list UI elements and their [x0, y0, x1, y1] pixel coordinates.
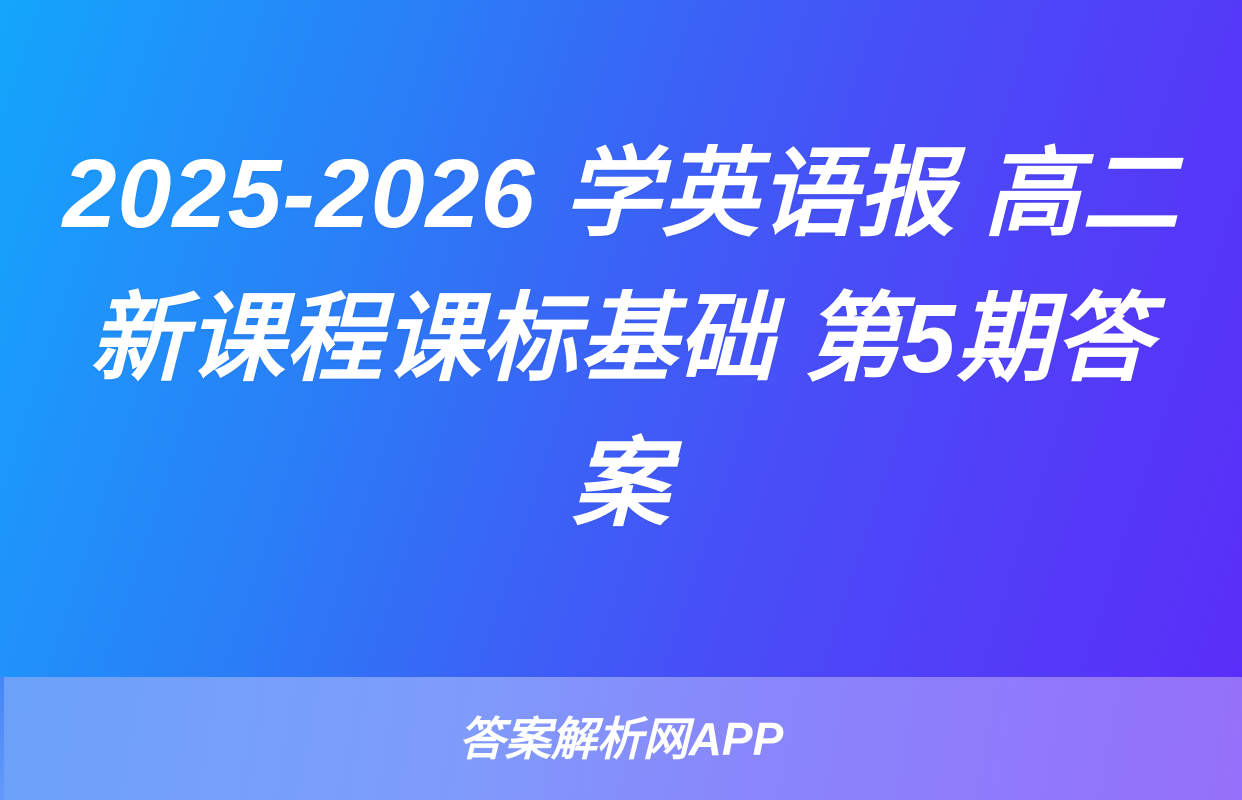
page-title: 2025-2026 学英语报 高二 新课程课标基础 第5期答案: [56, 121, 1186, 556]
hero-content: 2025-2026 学英语报 高二 新课程课标基础 第5期答案: [56, 121, 1186, 556]
hero-gradient-panel: 2025-2026 学英语报 高二 新课程课标基础 第5期答案: [0, 0, 1242, 677]
app-branding-band: 答案解析网APP: [0, 677, 1242, 800]
app-name-label: 答案解析网APP: [459, 711, 784, 767]
poster-canvas: 2025-2026 学英语报 高二 新课程课标基础 第5期答案 答案解析网APP: [0, 0, 1242, 800]
